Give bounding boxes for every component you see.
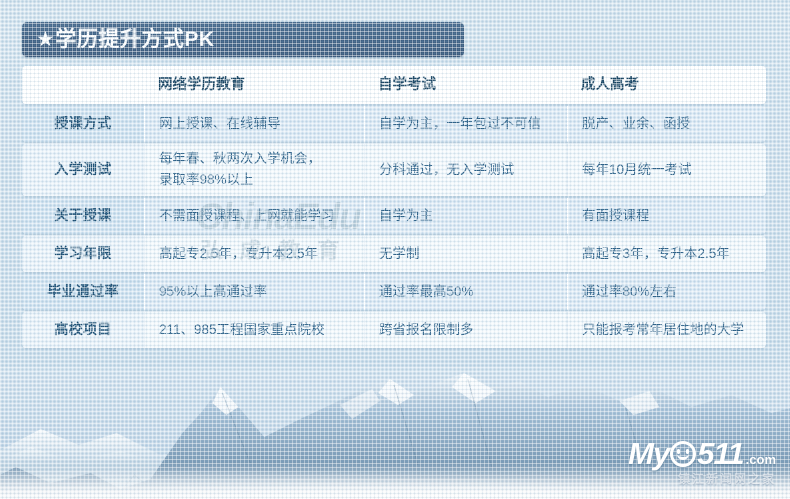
- row-cell-self-study-exam: 无学制: [364, 236, 567, 272]
- page-title: ★学历提升方式PK: [22, 29, 215, 50]
- row-label-study-duration: 学习年限: [22, 236, 144, 272]
- table-row: 入学测试 每年春、秋两次入学机会， 录取率98%以上 分科通过，无入学测试 每年…: [22, 144, 766, 196]
- row-cell-online-education: 高起专2.5年，专升本2.5年: [144, 236, 364, 272]
- row-cell-self-study-exam: 分科通过，无入学测试: [364, 144, 567, 196]
- row-cell-online-education: 211、985工程国家重点院校: [144, 312, 364, 348]
- header-cell-adult-college-exam: 成人高考: [567, 68, 766, 102]
- row-cell-self-study-exam: 跨省报名限制多: [364, 312, 567, 348]
- row-cell-self-study-exam: 自学为主，一年包过不可信: [364, 106, 567, 142]
- row-label-teaching-method: 授课方式: [22, 106, 144, 142]
- table-row: 关于授课 不需面授课程、上网就能学习 自学为主 有面授课程: [22, 198, 766, 234]
- comparison-table: 网络学历教育 自学考试 成人高考 授课方式 网上授课、在线辅导 自学为主，一年包…: [22, 66, 766, 350]
- row-cell-online-education: 每年春、秋两次入学机会， 录取率98%以上: [144, 144, 364, 196]
- cell-line-1: 每年春、秋两次入学机会，: [159, 149, 321, 170]
- header-cell-self-study-exam: 自学考试: [364, 68, 567, 102]
- row-label-entrance-test: 入学测试: [22, 144, 144, 196]
- table-row: 授课方式 网上授课、在线辅导 自学为主，一年包过不可信 脱产、业余、函授: [22, 106, 766, 142]
- row-label-graduation-rate: 毕业通过率: [22, 274, 144, 310]
- row-cell-adult-college-exam: 有面授课程: [567, 198, 766, 234]
- table-header-row: 网络学历教育 自学考试 成人高考: [22, 66, 766, 104]
- row-cell-online-education: 95%以上高通过率: [144, 274, 364, 310]
- row-cell-adult-college-exam: 高起专3年，专升本2.5年: [567, 236, 766, 272]
- cloud-band: [0, 463, 790, 499]
- row-cell-self-study-exam: 自学为主: [364, 198, 567, 234]
- row-cell-adult-college-exam: 脱产、业余、函授: [567, 106, 766, 142]
- table-row: 学习年限 高起专2.5年，专升本2.5年 无学制 高起专3年，专升本2.5年: [22, 236, 766, 272]
- row-cell-self-study-exam: 通过率最高50%: [364, 274, 567, 310]
- cell-line-2: 录取率98%以上: [159, 170, 321, 191]
- row-cell-adult-college-exam: 只能报考常年居住地的大学: [567, 312, 766, 348]
- header-cell-online-education: 网络学历教育: [144, 68, 364, 102]
- mountain-photo: [0, 367, 790, 499]
- row-label-university-program: 高校项目: [22, 312, 144, 348]
- poster-title-bar: ★学历提升方式PK: [22, 22, 464, 57]
- poster-canvas: ★学历提升方式PK 网络学历教育 自学考试 成人高考 授课方式 网上授课、在线辅…: [0, 0, 790, 499]
- header-cell-blank: [22, 68, 144, 102]
- row-cell-adult-college-exam: 通过率80%左右: [567, 274, 766, 310]
- row-label-about-teaching: 关于授课: [22, 198, 144, 234]
- row-cell-adult-college-exam: 每年10月统一考试: [567, 144, 766, 196]
- row-cell-online-education: 网上授课、在线辅导: [144, 106, 364, 142]
- table-row: 毕业通过率 95%以上高通过率 通过率最高50% 通过率80%左右: [22, 274, 766, 310]
- row-cell-online-education: 不需面授课程、上网就能学习: [144, 198, 364, 234]
- table-row: 高校项目 211、985工程国家重点院校 跨省报名限制多 只能报考常年居住地的大…: [22, 312, 766, 348]
